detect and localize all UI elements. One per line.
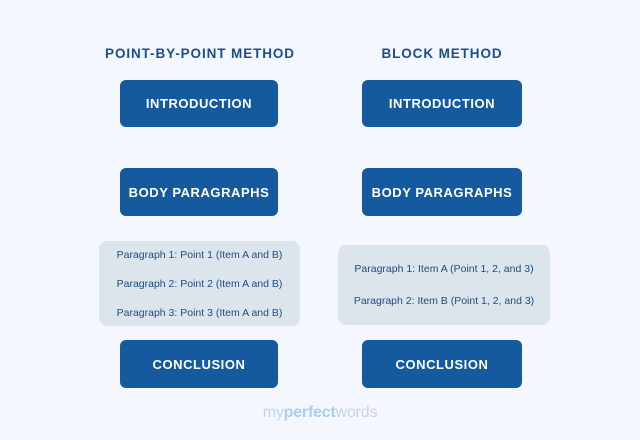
left-detail-line: Paragraph 1: Point 1 (Item A and B) bbox=[99, 248, 300, 262]
right-detail-line: Paragraph 1: Item A (Point 1, 2, and 3) bbox=[338, 262, 550, 276]
right-stage-body-paragraphs: BODY PARAGRAPHS bbox=[362, 168, 522, 216]
diagram-canvas: POINT-BY-POINT METHOD INTRODUCTION BODY … bbox=[0, 0, 640, 440]
right-stage-introduction: INTRODUCTION bbox=[362, 80, 522, 127]
column-heading-point-by-point: POINT-BY-POINT METHOD bbox=[60, 46, 340, 62]
left-stage-introduction: INTRODUCTION bbox=[120, 80, 278, 127]
right-stage-conclusion: CONCLUSION bbox=[362, 340, 522, 388]
column-heading-block-method: BLOCK METHOD bbox=[342, 46, 542, 62]
brand-logo-part-perfect: perfect bbox=[284, 404, 336, 421]
left-detail-panel: Paragraph 1: Point 1 (Item A and B) Para… bbox=[99, 241, 300, 326]
right-detail-panel: Paragraph 1: Item A (Point 1, 2, and 3) … bbox=[338, 245, 550, 325]
left-detail-line: Paragraph 2: Point 2 (Item A and B) bbox=[99, 277, 300, 291]
brand-logo: myperfectwords bbox=[0, 403, 640, 423]
left-stage-body-paragraphs: BODY PARAGRAPHS bbox=[120, 168, 278, 216]
left-stage-conclusion: CONCLUSION bbox=[120, 340, 278, 388]
brand-logo-part-words: words bbox=[336, 404, 378, 421]
right-detail-line: Paragraph 2: Item B (Point 1, 2, and 3) bbox=[338, 294, 550, 308]
left-detail-line: Paragraph 3: Point 3 (Item A and B) bbox=[99, 306, 300, 320]
brand-logo-part-my: my bbox=[263, 404, 284, 421]
